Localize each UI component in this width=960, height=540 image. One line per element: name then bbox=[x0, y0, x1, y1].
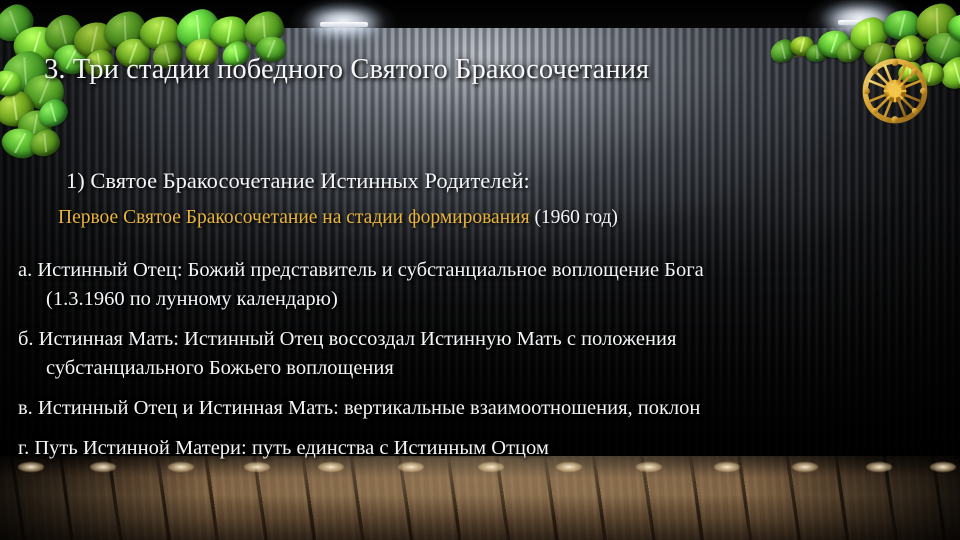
bullet-b-line-1: б. Истинная Мать: Истинный Отец воссозда… bbox=[18, 325, 948, 354]
bullet-v-line-1: в. Истинный Отец и Истинная Мать: вертик… bbox=[18, 394, 948, 423]
bullet-b-line-2: субстанциального Божьего воплощения bbox=[18, 354, 948, 383]
slide-subtitle-accent-row: Первое Святое Бракосочетание на стадии ф… bbox=[58, 207, 918, 229]
presentation-slide: 3. Три стадии победного Святого Бракосоч… bbox=[0, 0, 960, 540]
bullet-a-line-1: а. Истинный Отец: Божий представитель и … bbox=[18, 256, 948, 285]
bullet-g-line-1: г. Путь Истинной Матери: путь единства с… bbox=[18, 434, 948, 463]
slide-subtitle-main: 1) Святое Бракосочетание Истинных Родите… bbox=[66, 168, 886, 194]
bullet-a-line-2: (1.3.1960 по лунному календарю) bbox=[18, 285, 948, 314]
slide-text-content: 3. Три стадии победного Святого Бракосоч… bbox=[0, 0, 960, 540]
slide-title: 3. Три стадии победного Святого Бракосоч… bbox=[44, 54, 854, 86]
slide-subtitle-accent: Первое Святое Бракосочетание на стадии ф… bbox=[58, 207, 530, 228]
slide-bullet-list: а. Истинный Отец: Божий представитель и … bbox=[18, 256, 948, 463]
slide-subtitle-year: (1960 год) bbox=[530, 207, 618, 228]
